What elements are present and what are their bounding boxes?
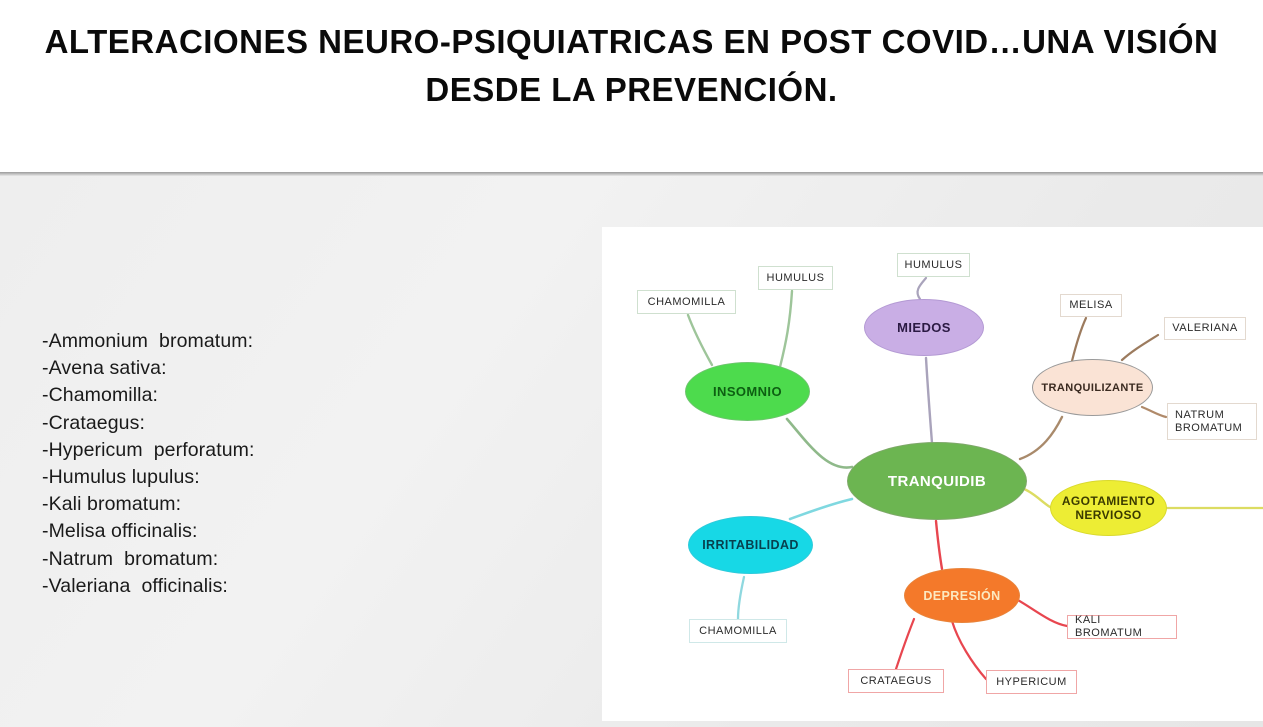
mindmap-leaf-hypericum[interactable]: HYPERICUM — [986, 670, 1077, 694]
mindmap-leaf-humulus-miedos[interactable]: HUMULUS — [897, 253, 970, 277]
mindmap-leaf-natrum-bromatum[interactable]: NATRUM BROMATUM — [1167, 403, 1257, 440]
list-item: -Valeriana officinalis: — [42, 573, 562, 600]
list-item: -Natrum bromatum: — [42, 546, 562, 573]
mindmap-leaf-kali-bromatum[interactable]: KALI BROMATUM — [1067, 615, 1177, 639]
list-item: -Hypericum perforatum: — [42, 437, 562, 464]
mindmap-diagram: TRANQUIDIB INSOMNIO MIEDOS TRANQUILIZANT… — [602, 227, 1263, 721]
remedy-list: -Ammonium bromatum: -Avena sativa: -Cham… — [42, 328, 562, 600]
slide-canvas: ALTERACIONES NEURO-PSIQUIATRICAS EN POST… — [0, 0, 1263, 727]
mindmap-leaf-chamomilla-irritabilidad[interactable]: CHAMOMILLA — [689, 619, 787, 643]
list-item: -Ammonium bromatum: — [42, 328, 562, 355]
mindmap-node-agotamiento-nervioso[interactable]: AGOTAMIENTO NERVIOSO — [1050, 480, 1167, 536]
mindmap-node-tranquilizante[interactable]: TRANQUILIZANTE — [1032, 359, 1153, 416]
list-item: -Kali bromatum: — [42, 491, 562, 518]
page-title: ALTERACIONES NEURO-PSIQUIATRICAS EN POST… — [0, 18, 1263, 114]
mindmap-node-depresion[interactable]: DEPRESIÓN — [904, 568, 1020, 623]
mindmap-leaf-humulus-insomnio[interactable]: HUMULUS — [758, 266, 833, 290]
list-item: -Avena sativa: — [42, 355, 562, 382]
mindmap-node-insomnio[interactable]: INSOMNIO — [685, 362, 810, 421]
mindmap-leaf-crataegus[interactable]: CRATAEGUS — [848, 669, 944, 693]
mindmap-leaf-melisa[interactable]: MELISA — [1060, 294, 1122, 317]
mindmap-leaf-valeriana[interactable]: VALERIANA — [1164, 317, 1246, 340]
mindmap-node-irritabilidad[interactable]: IRRITABILIDAD — [688, 516, 813, 574]
mindmap-node-miedos[interactable]: MIEDOS — [864, 299, 984, 356]
list-item: -Crataegus: — [42, 410, 562, 437]
mindmap-leaf-chamomilla-insomnio[interactable]: CHAMOMILLA — [637, 290, 736, 314]
list-item: -Chamomilla: — [42, 382, 562, 409]
slide-header: ALTERACIONES NEURO-PSIQUIATRICAS EN POST… — [0, 0, 1263, 173]
mindmap-node-tranquidib[interactable]: TRANQUIDIB — [847, 442, 1027, 520]
list-item: -Humulus lupulus: — [42, 464, 562, 491]
list-item: -Melisa officinalis: — [42, 518, 562, 545]
